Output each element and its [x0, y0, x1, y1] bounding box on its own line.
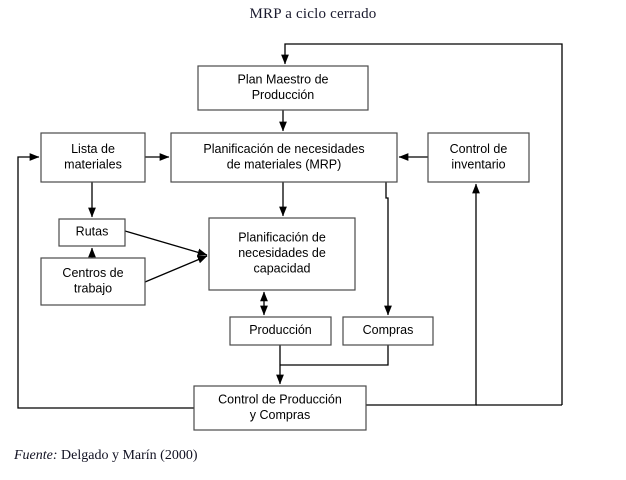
connector-centros-trabajo-to-capacidad [145, 256, 207, 282]
node-label-produccion: Producción [249, 323, 312, 337]
node-mrp[interactable]: Planificación de necesidadesde materiale… [171, 133, 397, 182]
mrp-flow-diagram: Plan Maestro deProducciónPlanificación d… [0, 0, 626, 480]
node-label-compras: Compras [363, 323, 414, 337]
node-capacidad[interactable]: Planificación denecesidades decapacidad [209, 218, 355, 290]
node-lista-materiales[interactable]: Lista demateriales [41, 133, 145, 182]
node-label-control-inventario: Control deinventario [450, 142, 508, 172]
node-label-lista-materiales: Lista demateriales [64, 142, 122, 172]
connector-rutas-to-capacidad [125, 231, 207, 255]
node-label-rutas: Rutas [76, 225, 109, 239]
figure-source-caption: Fuente: Delgado y Marín (2000) [14, 448, 198, 464]
source-label: Fuente: [14, 448, 58, 463]
connector-produccion-compras-to-control [280, 345, 388, 384]
connector-mrp-to-compras [386, 182, 388, 315]
node-layer: Plan Maestro deProducciónPlanificación d… [41, 66, 529, 430]
node-plan-maestro[interactable]: Plan Maestro deProducción [198, 66, 368, 110]
diagram-page: MRP a ciclo cerrado Plan Maestro deProdu… [0, 0, 626, 480]
node-control-produccion[interactable]: Control de Produccióny Compras [194, 386, 366, 430]
node-compras[interactable]: Compras [343, 317, 433, 345]
connector-control-produccion-to-control-inventario [366, 184, 476, 405]
node-label-mrp: Planificación de necesidadesde materiale… [203, 142, 364, 172]
source-text: Delgado y Marín (2000) [58, 448, 198, 463]
node-centros-trabajo[interactable]: Centros detrabajo [41, 258, 145, 305]
node-produccion[interactable]: Producción [230, 317, 331, 345]
node-rutas[interactable]: Rutas [59, 219, 125, 246]
node-control-inventario[interactable]: Control deinventario [428, 133, 529, 182]
